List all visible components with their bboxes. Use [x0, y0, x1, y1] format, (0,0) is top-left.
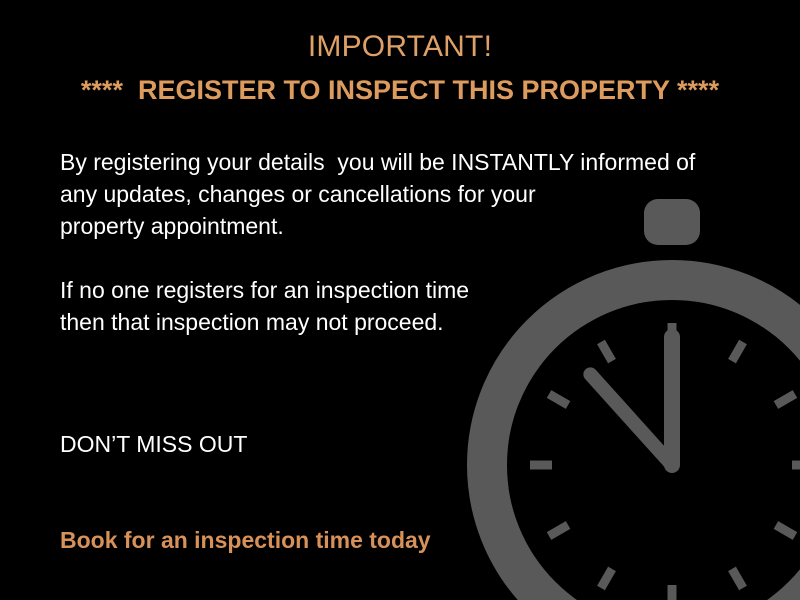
slide-content: IMPORTANT! **** REGISTER TO INSPECT THIS… — [0, 0, 800, 600]
call-to-action-block: DON’T MISS OUT Book for an inspection ti… — [60, 364, 431, 600]
cta-book-inspection: Book for an inspection time today — [60, 524, 431, 556]
cta-dont-miss-out: DON’T MISS OUT — [60, 428, 431, 460]
headline-important: IMPORTANT! — [0, 30, 800, 64]
paragraph-no-registration: If no one registers for an inspection ti… — [60, 274, 469, 338]
paragraph-registering-details: By registering your details you will be … — [60, 146, 695, 242]
headline-register: **** REGISTER TO INSPECT THIS PROPERTY *… — [0, 74, 800, 106]
promo-slide: IMPORTANT! **** REGISTER TO INSPECT THIS… — [0, 0, 800, 600]
